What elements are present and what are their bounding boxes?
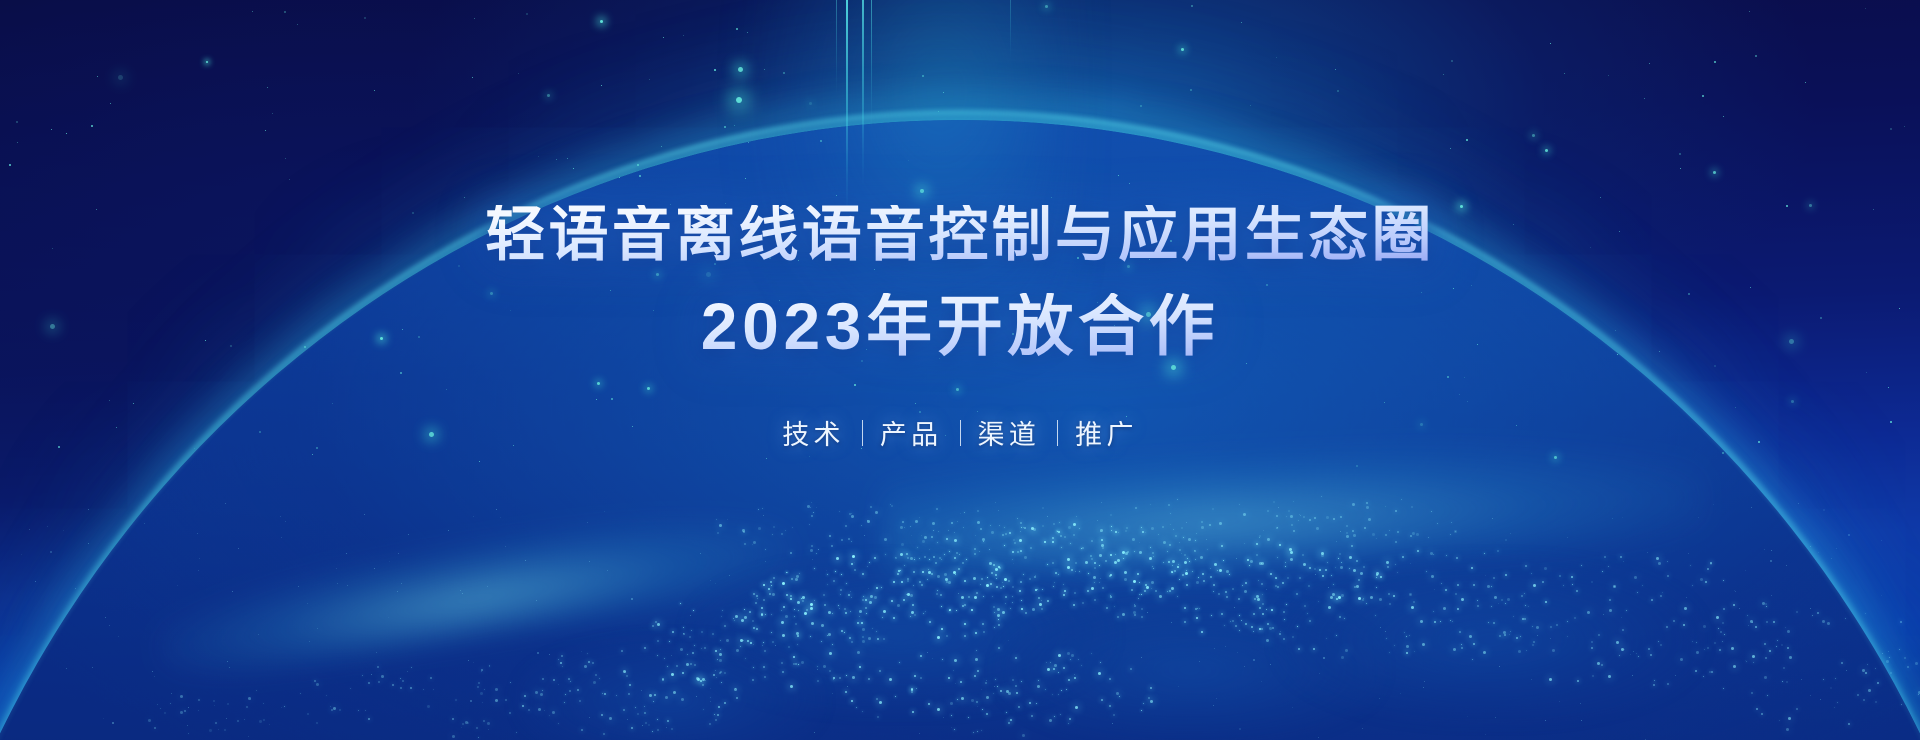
hero-banner: 轻语音离线语音控制与应用生态圈 2023年开放合作 技术产品渠道推广 xyxy=(0,0,1920,740)
banner-content: 轻语音离线语音控制与应用生态圈 2023年开放合作 技术产品渠道推广 xyxy=(0,0,1920,452)
tagline-word: 产品 xyxy=(863,413,960,452)
tagline-word: 推广 xyxy=(1058,413,1155,452)
limb-highlight-left xyxy=(151,493,797,687)
limb-highlight-right xyxy=(881,431,1706,584)
banner-tagline: 技术产品渠道推广 xyxy=(0,413,1920,452)
tagline-word: 技术 xyxy=(765,413,862,452)
banner-title-line2: 2023年开放合作 xyxy=(0,293,1920,359)
tagline-word: 渠道 xyxy=(961,413,1058,452)
banner-title-line1: 轻语音离线语音控制与应用生态圈 xyxy=(0,205,1920,265)
